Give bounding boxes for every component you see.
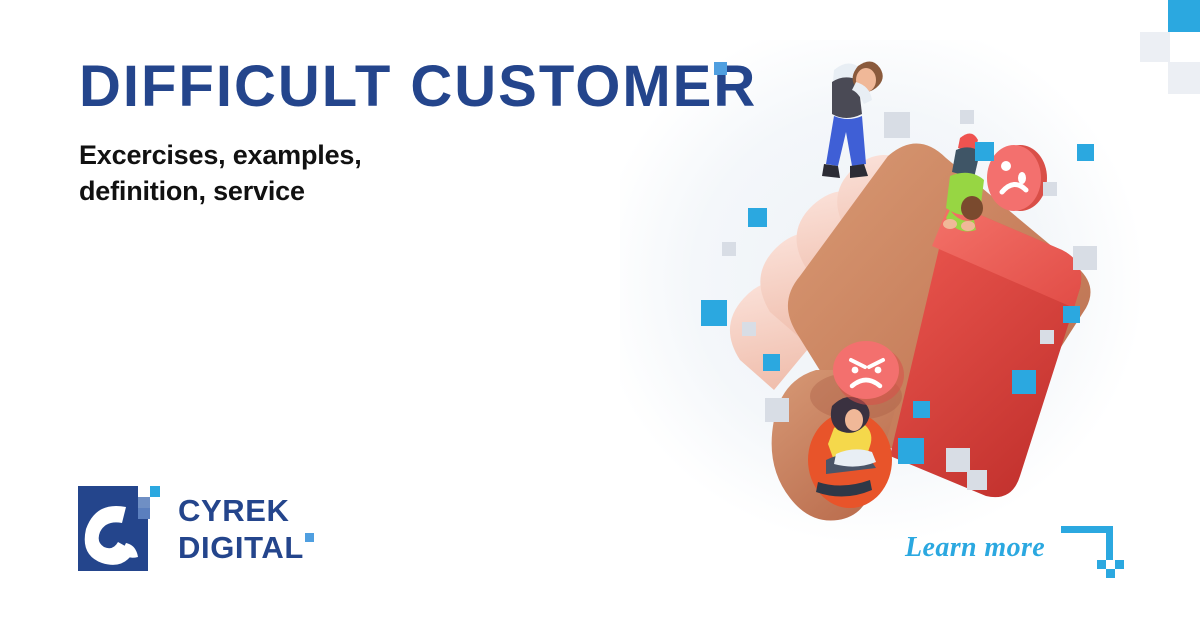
decor-square-7 bbox=[742, 322, 756, 336]
corner-square-grey-2 bbox=[1168, 62, 1200, 94]
brand-logo[interactable]: CYREK DIGITAL bbox=[78, 486, 304, 571]
decor-square-12 bbox=[898, 438, 924, 464]
decor-square-15 bbox=[1063, 306, 1080, 323]
sad-emoji-icon bbox=[987, 145, 1047, 211]
thumbs-down-illustration bbox=[620, 30, 1160, 530]
decor-square-18 bbox=[1077, 144, 1094, 161]
decor-square-14 bbox=[1073, 246, 1097, 270]
decor-square-5 bbox=[722, 242, 736, 256]
decor-square-9 bbox=[765, 398, 789, 422]
decor-square-3 bbox=[975, 142, 994, 161]
brand-name-line-2-text: DIGITAL bbox=[178, 530, 304, 565]
corner-square-blue bbox=[1168, 0, 1200, 32]
brand-name-line-2: DIGITAL bbox=[178, 532, 304, 563]
decor-square-2 bbox=[960, 110, 974, 124]
decor-square-19 bbox=[967, 470, 987, 490]
brand-name-line-1: CYREK bbox=[178, 495, 304, 526]
decor-square-16 bbox=[1040, 330, 1054, 344]
learn-more-label: Learn more bbox=[905, 532, 1045, 564]
decor-square-13 bbox=[1012, 370, 1036, 394]
decor-square-10 bbox=[913, 401, 930, 418]
decor-square-8 bbox=[763, 354, 780, 371]
brand-name: CYREK DIGITAL bbox=[178, 495, 304, 563]
learn-more-cta[interactable]: Learn more bbox=[905, 518, 1139, 578]
decor-square-17 bbox=[1043, 182, 1057, 196]
cyrek-logo-icon bbox=[78, 486, 160, 571]
decor-square-6 bbox=[701, 300, 727, 326]
banner-canvas: DIFFICULT CUSTOMER Excercises, examples,… bbox=[0, 0, 1200, 628]
decor-square-1 bbox=[884, 112, 910, 138]
decor-square-11 bbox=[946, 448, 970, 472]
brand-accent-square bbox=[305, 533, 314, 542]
decor-square-4 bbox=[748, 208, 767, 227]
arrow-corner-icon bbox=[1061, 522, 1139, 578]
